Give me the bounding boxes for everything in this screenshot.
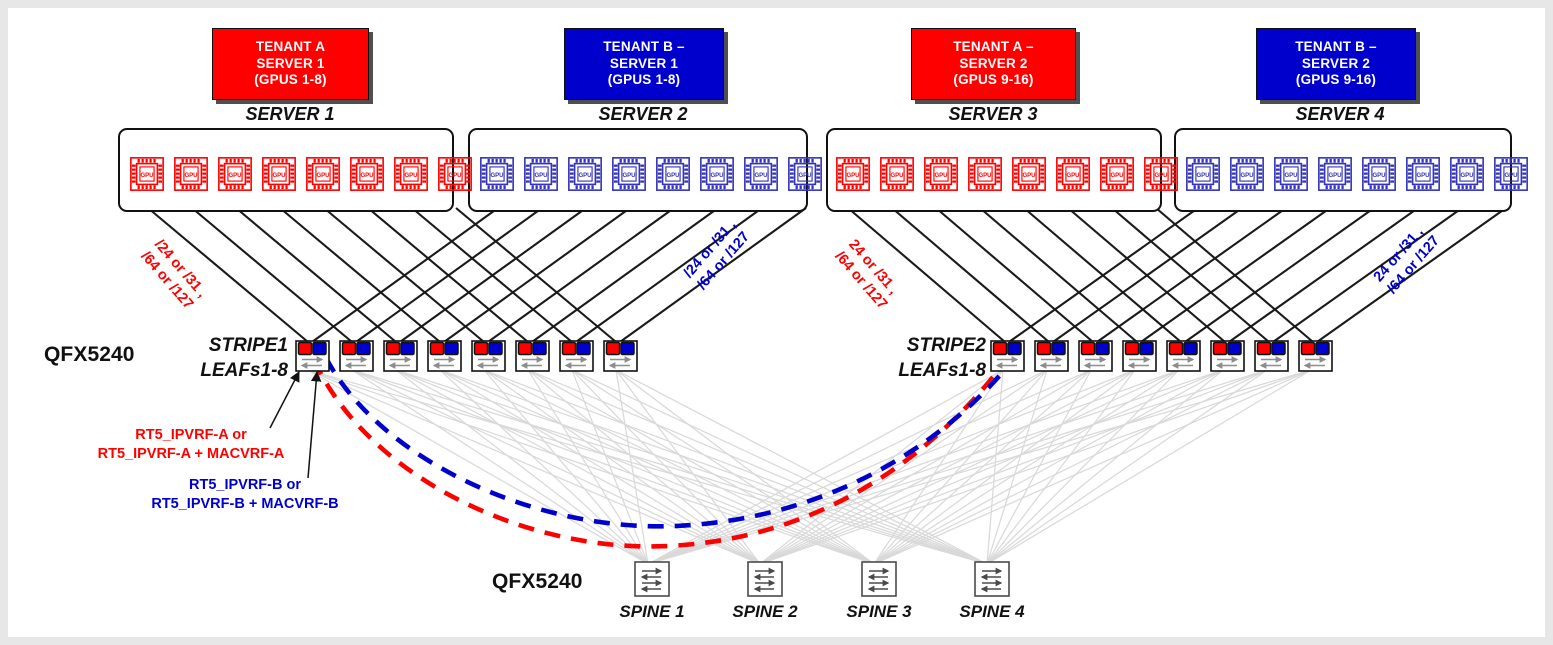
gpu-chip: GPU	[174, 156, 208, 194]
gpu-chip: GPU	[1012, 156, 1046, 194]
vrf-note-b-line2: RT5_IPVRF-B + MACVRF-B	[120, 495, 370, 514]
gpu-chip: GPU	[1362, 156, 1396, 194]
tenant-badge-line1: TENANT A	[256, 39, 325, 56]
svg-text:GPU: GPU	[448, 173, 461, 179]
spine-label: SPINE 4	[932, 602, 1052, 622]
svg-text:GPU: GPU	[272, 173, 285, 179]
stripe1-leafs: LEAFs1-8	[168, 358, 288, 383]
stripe2-name: STRIPE2	[856, 333, 986, 358]
svg-text:GPU: GPU	[228, 173, 241, 179]
leaf-switch[interactable]	[559, 340, 594, 372]
tenant-badge-line1: TENANT B –	[603, 39, 685, 56]
svg-text:GPU: GPU	[1022, 173, 1035, 179]
gpu-chip: GPU	[1056, 156, 1090, 194]
leaf-switch[interactable]	[1078, 340, 1113, 372]
gpu-chip: GPU	[924, 156, 958, 194]
gpu-chip: GPU	[568, 156, 602, 194]
vrf-note-a-line2: RT5_IPVRF-A + MACVRF-A	[66, 445, 316, 464]
tenant-badge-line2: SERVER 1	[256, 56, 324, 73]
svg-text:GPU: GPU	[1196, 173, 1209, 179]
gpu-chip: GPU	[1450, 156, 1484, 194]
stripe2-label: STRIPE2 LEAFs1-8	[856, 333, 986, 383]
server-title-2: SERVER 2	[533, 104, 753, 125]
gpu-chip: GPU	[394, 156, 428, 194]
spine-device-label: QFX5240	[492, 570, 583, 594]
spine-label: SPINE 2	[705, 602, 825, 622]
vrf-note-b: RT5_IPVRF-B or RT5_IPVRF-B + MACVRF-B	[120, 476, 370, 514]
svg-text:GPU: GPU	[1328, 173, 1341, 179]
tenant-badge-line1: TENANT A –	[953, 39, 1034, 56]
gpu-chip: GPU	[656, 156, 690, 194]
subnet-annotation-stripe1-blue: /24 or /31 , /64 or /127	[680, 216, 754, 293]
server-title-3: SERVER 3	[883, 104, 1103, 125]
svg-text:GPU: GPU	[978, 173, 991, 179]
spine-label: SPINE 3	[819, 602, 939, 622]
tenant-badge-line2: SERVER 2	[1302, 56, 1370, 73]
tenant-badge-line3: (GPUS 9-16)	[953, 72, 1033, 89]
svg-text:GPU: GPU	[140, 173, 153, 179]
svg-text:GPU: GPU	[316, 173, 329, 179]
server-title-1: SERVER 1	[180, 104, 400, 125]
svg-text:GPU: GPU	[490, 173, 503, 179]
gpu-chip: GPU	[350, 156, 384, 194]
diagram-canvas: TENANT A SERVER 1 (GPUS 1-8) TENANT B – …	[8, 8, 1545, 637]
svg-text:GPU: GPU	[1504, 173, 1517, 179]
svg-text:GPU: GPU	[710, 173, 723, 179]
svg-text:GPU: GPU	[534, 173, 547, 179]
subnet-annotation-stripe2-blue: 24 or /31 , /64 or /127	[1370, 220, 1444, 297]
subnet-annotation-stripe1-red: /24 or /31 , /64 or /127	[137, 236, 211, 313]
gpu-chip: GPU	[438, 156, 472, 194]
gpu-chip: GPU	[968, 156, 1002, 194]
leaf-switch[interactable]	[339, 340, 374, 372]
gpu-chip: GPU	[1144, 156, 1178, 194]
svg-text:GPU: GPU	[890, 173, 903, 179]
gpu-chip: GPU	[1100, 156, 1134, 194]
leaf-switch[interactable]	[1254, 340, 1289, 372]
vrf-note-b-line1: RT5_IPVRF-B or	[120, 476, 370, 495]
tenant-badge-b-server2: TENANT B – SERVER 2 (GPUS 9-16)	[1256, 28, 1416, 100]
gpu-chip: GPU	[700, 156, 734, 194]
topology-links	[8, 8, 1545, 637]
tenant-badge-a-server2: TENANT A – SERVER 2 (GPUS 9-16)	[911, 28, 1076, 100]
gpu-chip: GPU	[130, 156, 164, 194]
spine-switch[interactable]	[634, 561, 670, 597]
gpu-chip: GPU	[1186, 156, 1220, 194]
stripe1-name: STRIPE1	[168, 333, 288, 358]
tenant-badge-line3: (GPUS 1-8)	[254, 72, 327, 89]
svg-text:GPU: GPU	[622, 173, 635, 179]
gpu-chip: GPU	[612, 156, 646, 194]
svg-text:GPU: GPU	[1416, 173, 1429, 179]
svg-text:GPU: GPU	[1240, 173, 1253, 179]
svg-text:GPU: GPU	[1372, 173, 1385, 179]
gpu-chip: GPU	[744, 156, 778, 194]
gpu-chip: GPU	[1318, 156, 1352, 194]
svg-text:GPU: GPU	[1066, 173, 1079, 179]
gpu-leaf-links	[148, 208, 1506, 342]
spine-switch[interactable]	[974, 561, 1010, 597]
vrf-note-a-line1: RT5_IPVRF-A or	[66, 426, 316, 445]
tenant-badge-line3: (GPUS 1-8)	[608, 72, 681, 89]
svg-text:GPU: GPU	[666, 173, 679, 179]
stripe1-label: STRIPE1 LEAFs1-8	[168, 333, 288, 383]
subnet-annotation-stripe2-red: 24 or /31 , /64 or /127	[831, 236, 905, 313]
svg-text:GPU: GPU	[1154, 173, 1167, 179]
leaf-device-label: QFX5240	[44, 343, 135, 367]
svg-text:GPU: GPU	[798, 173, 811, 179]
vrf-note-a: RT5_IPVRF-A or RT5_IPVRF-A + MACVRF-A	[66, 426, 316, 464]
gpu-chip: GPU	[788, 156, 822, 194]
gpu-chip: GPU	[880, 156, 914, 194]
leaf-switch[interactable]	[471, 340, 506, 372]
svg-text:GPU: GPU	[578, 173, 591, 179]
tenant-badge-a-server1: TENANT A SERVER 1 (GPUS 1-8)	[212, 28, 369, 100]
leaf-switch[interactable]	[295, 340, 330, 372]
svg-text:GPU: GPU	[934, 173, 947, 179]
svg-text:GPU: GPU	[360, 173, 373, 179]
svg-text:GPU: GPU	[1110, 173, 1123, 179]
svg-text:GPU: GPU	[184, 173, 197, 179]
leaf-switch[interactable]	[1166, 340, 1201, 372]
gpu-chip: GPU	[306, 156, 340, 194]
gpu-chip: GPU	[480, 156, 514, 194]
tenant-badge-line3: (GPUS 9-16)	[1296, 72, 1376, 89]
leaf-switch[interactable]	[1122, 340, 1157, 372]
server-title-4: SERVER 4	[1230, 104, 1450, 125]
svg-text:GPU: GPU	[1460, 173, 1473, 179]
leaf-spine-mesh	[308, 370, 1311, 564]
spine-switch[interactable]	[861, 561, 897, 597]
gpu-chip: GPU	[1494, 156, 1528, 194]
gpu-chip: GPU	[262, 156, 296, 194]
gpu-chip: GPU	[218, 156, 252, 194]
svg-text:GPU: GPU	[754, 173, 767, 179]
leaf-switch[interactable]	[515, 340, 550, 372]
spine-switch[interactable]	[747, 561, 783, 597]
leaf-switch[interactable]	[427, 340, 462, 372]
leaf-switch[interactable]	[1034, 340, 1069, 372]
svg-text:GPU: GPU	[404, 173, 417, 179]
leaf-switch[interactable]	[383, 340, 418, 372]
gpu-chip: GPU	[1274, 156, 1308, 194]
tenant-badge-line2: SERVER 2	[959, 56, 1027, 73]
leaf-switch[interactable]	[990, 340, 1025, 372]
leaf-switch[interactable]	[1210, 340, 1245, 372]
tenant-badge-line2: SERVER 1	[610, 56, 678, 73]
spine-label: SPINE 1	[592, 602, 712, 622]
leaf-switch[interactable]	[603, 340, 638, 372]
svg-text:GPU: GPU	[1284, 173, 1297, 179]
gpu-chip: GPU	[1230, 156, 1264, 194]
svg-text:GPU: GPU	[846, 173, 859, 179]
gpu-chip: GPU	[1406, 156, 1440, 194]
gpu-chip: GPU	[836, 156, 870, 194]
tenant-badge-b-server1: TENANT B – SERVER 1 (GPUS 1-8)	[564, 28, 724, 100]
leaf-switch[interactable]	[1298, 340, 1333, 372]
stripe2-leafs: LEAFs1-8	[856, 358, 986, 383]
gpu-chip: GPU	[524, 156, 558, 194]
rt5-vrf-a-path	[314, 358, 1008, 546]
tenant-badge-line1: TENANT B –	[1295, 39, 1377, 56]
